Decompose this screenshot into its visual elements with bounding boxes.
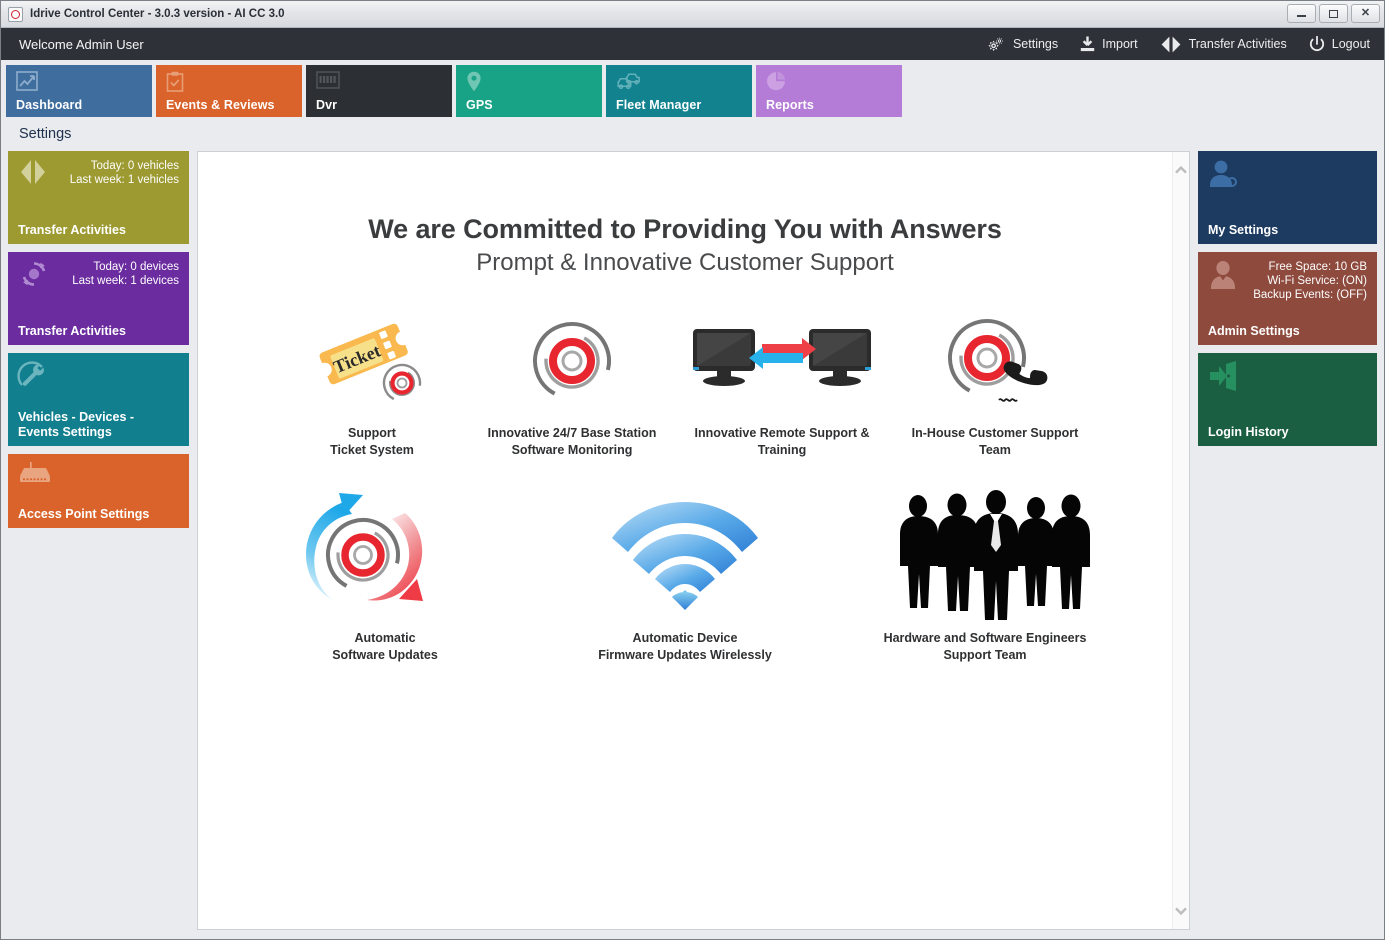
caption-line: Innovative Remote Support &: [672, 425, 892, 442]
caption-line: Software Updates: [235, 647, 535, 664]
caption-line: Hardware and Software Engineers: [835, 630, 1135, 647]
remote-monitors-icon: [672, 307, 892, 415]
caption-line: Software Monitoring: [472, 442, 672, 459]
close-icon[interactable]: ✕: [1351, 4, 1380, 23]
import-label: Import: [1102, 37, 1137, 51]
transfer-arrows-icon: [18, 159, 48, 190]
tab-dvr-label: Dvr: [316, 98, 337, 112]
sidebar-item-transfer-activities-devices[interactable]: Today: 0 devices Last week: 1 devices Tr…: [8, 252, 189, 345]
window-controls: ✕: [1287, 4, 1380, 23]
caption-line: Automatic Device: [535, 630, 835, 647]
sidebar-item-vehicles-devices-events-settings[interactable]: Vehicles - Devices - Events Settings: [8, 353, 189, 446]
feature-row-1: Ticket: [198, 307, 1172, 459]
welcome-message: Welcome Admin User: [19, 37, 144, 52]
application-window: Idrive Control Center - 3.0.3 version - …: [0, 0, 1385, 940]
feature-grid: Ticket: [198, 307, 1172, 664]
tile-title: Transfer Activities: [18, 223, 178, 238]
tab-fleet-manager-label: Fleet Manager: [616, 98, 701, 112]
feature-base-station-monitoring: Innovative 24/7 Base Station Software Mo…: [472, 307, 672, 459]
sidebar-item-my-settings[interactable]: My Settings: [1198, 151, 1377, 244]
feature-in-house-customer-support: In-House Customer Support Team: [892, 307, 1098, 459]
caption-line: Support Team: [835, 647, 1135, 664]
chart-trend-icon: [16, 71, 38, 96]
wifi-signal-icon: [535, 485, 835, 620]
cars-icon: [616, 71, 642, 96]
feature-hardware-software-engineers: Hardware and Software Engineers Support …: [835, 485, 1135, 664]
login-arrow-icon: [1208, 361, 1240, 396]
tab-events-reviews-label: Events & Reviews: [166, 98, 275, 112]
feature-caption: Innovative 24/7 Base Station Software Mo…: [472, 425, 672, 459]
navigation-tabs: Dashboard Events & Reviews Dvr GPS: [1, 60, 1384, 117]
support-ticket-icon: Ticket: [272, 307, 472, 415]
feature-caption: Automatic Device Firmware Updates Wirele…: [535, 630, 835, 664]
tile-title: Transfer Activities: [18, 324, 178, 339]
feature-automatic-firmware-updates: Automatic Device Firmware Updates Wirele…: [535, 485, 835, 664]
feature-caption: Innovative Remote Support & Training: [672, 425, 892, 459]
breadcrumb-bar: Settings: [1, 117, 1384, 151]
right-sidebar: My Settings Free Space: 10 GB Wi-Fi Serv…: [1198, 151, 1377, 930]
caption-line: Innovative 24/7 Base Station: [472, 425, 672, 442]
settings-button[interactable]: Settings: [987, 36, 1058, 53]
tile-title: Login History: [1208, 425, 1368, 440]
sync-target-icon: [235, 485, 535, 620]
tile-title: Admin Settings: [1208, 324, 1368, 339]
tab-reports-label: Reports: [766, 98, 814, 112]
tile-title: My Settings: [1208, 223, 1368, 238]
tab-gps-label: GPS: [466, 98, 493, 112]
caption-line: In-House Customer Support: [892, 425, 1098, 442]
clipboard-check-icon: [166, 71, 184, 97]
caption-line: Ticket System: [272, 442, 472, 459]
caption-line: Support: [272, 425, 472, 442]
feature-remote-support-training: Innovative Remote Support & Training: [672, 307, 892, 459]
caption-line: Automatic: [235, 630, 535, 647]
team-silhouette-icon: [835, 485, 1135, 620]
header-actions: Settings Import Transf: [987, 36, 1370, 53]
feature-support-ticket-system: Ticket: [272, 307, 472, 459]
tab-reports[interactable]: Reports: [756, 65, 902, 117]
target-phone-icon: [892, 307, 1098, 415]
page-subtitle: Prompt & Innovative Customer Support: [198, 249, 1172, 277]
minimize-icon[interactable]: [1287, 4, 1316, 23]
maximize-icon[interactable]: [1319, 4, 1348, 23]
feature-caption: Hardware and Software Engineers Support …: [835, 630, 1135, 664]
user-settings-icon: [1208, 159, 1238, 194]
title-bar: Idrive Control Center - 3.0.3 version - …: [1, 1, 1384, 28]
target-logo-icon: [8, 7, 23, 22]
wrench-icon: [18, 361, 48, 394]
sync-device-icon: [18, 260, 50, 293]
feature-row-2: Automatic Software Updates: [198, 485, 1172, 664]
map-pin-icon: [466, 71, 482, 97]
gears-icon: [987, 36, 1006, 53]
sidebar-item-login-history[interactable]: Login History: [1198, 353, 1377, 446]
sidebar-item-access-point-settings[interactable]: Access Point Settings: [8, 454, 189, 528]
tile-title: Vehicles - Devices - Events Settings: [18, 410, 178, 440]
tab-dashboard[interactable]: Dashboard: [6, 65, 152, 117]
window-title: Idrive Control Center - 3.0.3 version - …: [30, 8, 285, 20]
page-body: Today: 0 vehicles Last week: 1 vehicles …: [1, 151, 1384, 939]
tab-events-reviews[interactable]: Events & Reviews: [156, 65, 302, 117]
caption-line: Training: [672, 442, 892, 459]
download-icon: [1080, 36, 1095, 52]
main-content-panel: We are Committed to Providing You with A…: [197, 151, 1190, 930]
logout-button[interactable]: Logout: [1309, 36, 1370, 52]
sidebar-item-admin-settings[interactable]: Free Space: 10 GB Wi-Fi Service: (ON) Ba…: [1198, 252, 1377, 345]
feature-automatic-software-updates: Automatic Software Updates: [235, 485, 535, 664]
tab-gps[interactable]: GPS: [456, 65, 602, 117]
transfer-arrows-icon: [1160, 36, 1182, 53]
left-sidebar: Today: 0 vehicles Last week: 1 vehicles …: [8, 151, 189, 930]
settings-label: Settings: [1013, 37, 1058, 51]
breadcrumb: Settings: [19, 126, 71, 142]
sidebar-item-transfer-activities-vehicles[interactable]: Today: 0 vehicles Last week: 1 vehicles …: [8, 151, 189, 244]
feature-caption: Support Ticket System: [272, 425, 472, 459]
transfer-activities-button[interactable]: Transfer Activities: [1160, 36, 1287, 53]
logout-label: Logout: [1332, 37, 1370, 51]
feature-caption: Automatic Software Updates: [235, 630, 535, 664]
tab-fleet-manager[interactable]: Fleet Manager: [606, 65, 752, 117]
import-button[interactable]: Import: [1080, 36, 1137, 52]
tab-dvr[interactable]: Dvr: [306, 65, 452, 117]
feature-caption: In-House Customer Support Team: [892, 425, 1098, 459]
target-logo-icon: [472, 307, 672, 415]
admin-user-icon: [1208, 260, 1238, 295]
header-bar: Welcome Admin User Settings: [1, 28, 1384, 60]
page-title: We are Committed to Providing You with A…: [198, 214, 1172, 245]
content-area: We are Committed to Providing You with A…: [198, 152, 1172, 929]
router-icon: [18, 462, 52, 491]
chevron-down-icon[interactable]: [1175, 902, 1187, 920]
caption-line: Team: [892, 442, 1098, 459]
content-scrollbar[interactable]: [1172, 152, 1189, 929]
tile-title: Access Point Settings: [18, 507, 178, 522]
caption-line: Firmware Updates Wirelessly: [535, 647, 835, 664]
chevron-up-icon[interactable]: [1175, 161, 1187, 179]
dvr-icon: [316, 71, 340, 94]
pie-chart-icon: [766, 71, 787, 97]
power-icon: [1309, 36, 1325, 52]
hero-section: We are Committed to Providing You with A…: [198, 152, 1172, 277]
transfer-activities-label: Transfer Activities: [1189, 37, 1287, 51]
tab-dashboard-label: Dashboard: [16, 98, 82, 112]
